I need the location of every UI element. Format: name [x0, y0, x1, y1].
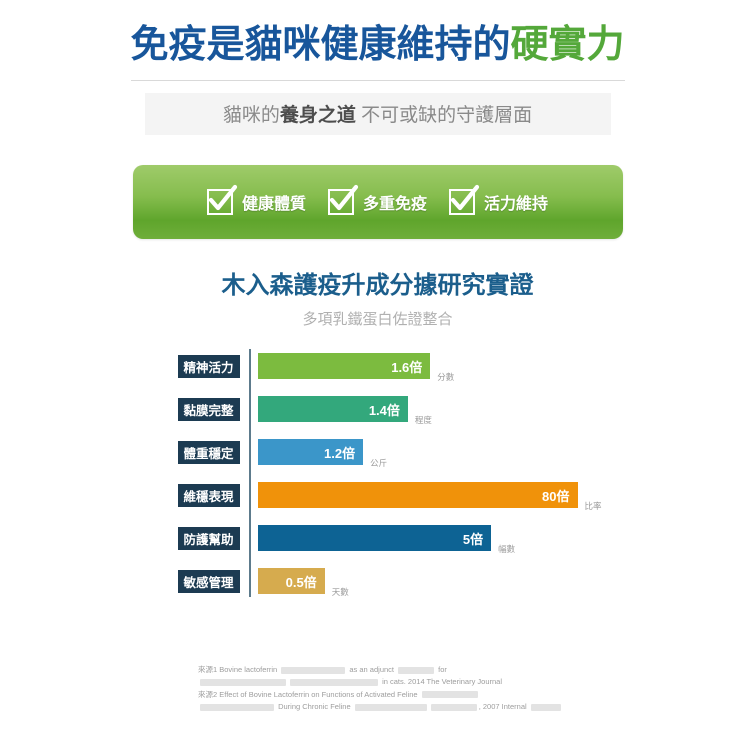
chart-bar-unit: 公斤 [370, 457, 387, 469]
page-title-primary: 免疫是貓咪健康維持的 [130, 24, 510, 66]
chart-row-label: 黏膜完整 [178, 398, 240, 421]
redacted-text-block [200, 704, 274, 711]
section-subtitle: 多項乳鐵蛋白佐證整合 [0, 308, 755, 329]
footnote-text: in cats. 2014 The Veterinary Journal [380, 677, 502, 686]
chart-bar-track: 1.4倍程度 [258, 396, 578, 422]
chart-bar: 1.6倍 [258, 353, 431, 379]
footnote-line: During Chronic Feline , 2007 Internal [198, 701, 558, 713]
feature-label: 多重免疫 [363, 190, 427, 214]
footnote-text: for [436, 665, 447, 674]
redacted-text-block [531, 704, 561, 711]
redacted-text-block [422, 691, 478, 698]
chart-bar-track: 80倍比率 [258, 482, 578, 508]
chart-bar-value: 0.5倍 [286, 572, 317, 591]
title-divider [131, 80, 625, 81]
checkbox-check-icon [207, 189, 233, 215]
feature-item-1: 健康體質 [196, 189, 317, 215]
page-title-highlight: 硬實力 [511, 24, 625, 66]
chart-row-label: 體重穩定 [178, 441, 240, 464]
chart-bar: 80倍 [258, 482, 578, 508]
footnote-text: as an adjunct [347, 665, 396, 674]
chart-bar-value: 1.6倍 [391, 357, 422, 376]
redacted-text-block [431, 704, 477, 711]
chart-row: 防護幫助5倍幅數 [178, 517, 578, 560]
chart-bar-unit: 程度 [415, 414, 432, 426]
checkbox-check-icon [328, 189, 354, 215]
footnote-line: 來源2 Effect of Bovine Lactoferrin on Func… [198, 689, 558, 701]
chart-bar-track: 1.6倍分數 [258, 353, 578, 379]
chart-bar-unit: 天數 [332, 586, 349, 598]
chart-bar-unit: 比率 [585, 500, 602, 512]
chart-bar-unit: 分數 [437, 371, 454, 383]
chart-bar-track: 1.2倍公斤 [258, 439, 578, 465]
chart-bar: 0.5倍 [258, 568, 325, 594]
footnote-text: , 2007 Internal [479, 702, 529, 711]
chart-bar: 1.2倍 [258, 439, 364, 465]
chart-row: 維穩表現80倍比率 [178, 474, 578, 517]
page-title: 免疫是貓咪健康維持的硬實力 [0, 24, 755, 68]
redacted-text-block [200, 679, 286, 686]
chart-bar-value: 1.4倍 [369, 400, 400, 419]
redacted-text-block [281, 667, 345, 674]
chart-row: 敏感管理0.5倍天數 [178, 560, 578, 603]
results-bar-chart: 精神活力1.6倍分數黏膜完整1.4倍程度體重穩定1.2倍公斤維穩表現80倍比率防… [178, 345, 578, 603]
footnote-text: 來源1 Bovine lactoferrin [198, 665, 279, 674]
infographic-page: 免疫是貓咪健康維持的硬實力 貓咪的養身之道 不可或缺的守護層面 健康體質 多重免… [0, 0, 755, 755]
chart-bar-value: 1.2倍 [324, 443, 355, 462]
chart-bar-track: 0.5倍天數 [258, 568, 578, 594]
footnote-text: 來源2 Effect of Bovine Lactoferrin on Func… [198, 690, 420, 699]
subtitle-accent: 養身之道 [280, 105, 356, 126]
section-title: 木入森護疫升成分據研究實證 [0, 265, 755, 300]
hero-section: 免疫是貓咪健康維持的硬實力 [0, 0, 755, 81]
feature-label: 健康體質 [242, 190, 306, 214]
chart-row: 黏膜完整1.4倍程度 [178, 388, 578, 431]
chart-row: 精神活力1.6倍分數 [178, 345, 578, 388]
chart-bar-unit: 幅數 [498, 543, 515, 555]
checkbox-check-icon [449, 189, 475, 215]
chart-bar: 1.4倍 [258, 396, 408, 422]
chart-bar: 5倍 [258, 525, 492, 551]
chart-row-label: 維穩表現 [178, 484, 240, 507]
subtitle-prefix: 貓咪的 [223, 105, 280, 126]
footnote-line: 來源1 Bovine lactoferrin as an adjunct for [198, 664, 558, 676]
chart-bar-track: 5倍幅數 [258, 525, 578, 551]
chart-row: 體重穩定1.2倍公斤 [178, 431, 578, 474]
footnote-text: During Chronic Feline [276, 702, 353, 711]
subtitle-suffix: 不可或缺的守護層面 [356, 105, 532, 126]
chart-row-label: 精神活力 [178, 355, 240, 378]
footnote-references: 來源1 Bovine lactoferrin as an adjunct for… [198, 664, 558, 714]
subtitle-band: 貓咪的養身之道 不可或缺的守護層面 [145, 93, 611, 135]
feature-item-2: 多重免疫 [317, 189, 438, 215]
subtitle-text: 貓咪的養身之道 不可或缺的守護層面 [223, 100, 532, 127]
section-heading: 木入森護疫升成分據研究實證 多項乳鐵蛋白佐證整合 [0, 265, 755, 329]
feature-label: 活力維持 [484, 190, 548, 214]
redacted-text-block [290, 679, 378, 686]
footnote-line: in cats. 2014 The Veterinary Journal [198, 676, 558, 688]
chart-row-label: 敏感管理 [178, 570, 240, 593]
chart-row-label: 防護幫助 [178, 527, 240, 550]
redacted-text-block [398, 667, 434, 674]
redacted-text-block [355, 704, 427, 711]
chart-bar-value: 5倍 [463, 529, 483, 548]
chart-bar-value: 80倍 [542, 486, 569, 505]
feature-banner: 健康體質 多重免疫 活力維持 [133, 165, 623, 239]
feature-item-3: 活力維持 [438, 189, 559, 215]
